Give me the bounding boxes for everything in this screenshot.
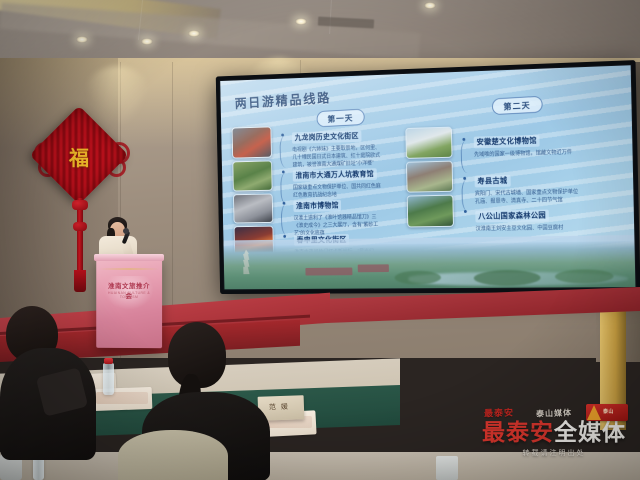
knot-bead	[73, 222, 87, 231]
slide-panorama	[224, 241, 636, 289]
water-bottle	[103, 363, 114, 395]
watermark: 最泰安 泰山媒体 泰山 最泰安全媒体 转载请注明出处	[474, 404, 634, 458]
podium-top-surface	[94, 254, 164, 261]
watermark-logo-text: 泰山	[603, 408, 614, 415]
watermark-main-red: 最泰安	[482, 420, 554, 446]
led-screen: 两日游精品线路 第一天 九龙岗历史文化街区	[216, 60, 640, 294]
bottle-cap	[104, 358, 113, 364]
knot-tassel	[74, 270, 86, 292]
podium-gold-line	[99, 268, 159, 270]
watermark-main-white: 全媒体	[554, 420, 626, 446]
watermark-calligraphy-left: 最泰安	[484, 405, 514, 419]
name-card-text: 范媛	[258, 401, 304, 413]
pagoda-illustration	[243, 250, 250, 275]
ceiling-downlight	[76, 36, 88, 43]
temple-illustration	[305, 268, 352, 276]
temple-illustration	[358, 264, 389, 272]
conference-hall-photo: 两日游精品线路 第一天 九龙岗历史文化街区	[0, 0, 640, 480]
ceiling-downlight	[188, 30, 200, 37]
microphone-head-icon	[123, 228, 129, 234]
audience-person-light-jacket	[118, 430, 228, 480]
fu-character-icon: 福	[62, 139, 96, 173]
knot-bead	[72, 200, 88, 210]
ceiling-downlight	[424, 2, 436, 9]
watermark-calligraphy-right: 泰山媒体	[536, 407, 572, 419]
ceiling-downlight	[295, 18, 307, 25]
podium-subtitle: HUAINAN CULTURE & TOURISM	[106, 291, 152, 299]
drinking-glass	[436, 456, 458, 480]
watermark-subtitle: 转载请注明出处	[474, 448, 634, 458]
day2-item-3-desc: 汉淮南王刘安主豆文化园、中国豆腐村	[476, 223, 580, 233]
ceiling-downlight	[141, 38, 153, 45]
screen-glare	[220, 65, 635, 227]
watermark-main: 最泰安全媒体	[474, 422, 634, 445]
watermark-topline: 最泰安 泰山媒体 泰山	[474, 404, 634, 422]
presentation-slide: 两日游精品线路 第一天 九龙岗历史文化街区	[220, 65, 635, 289]
